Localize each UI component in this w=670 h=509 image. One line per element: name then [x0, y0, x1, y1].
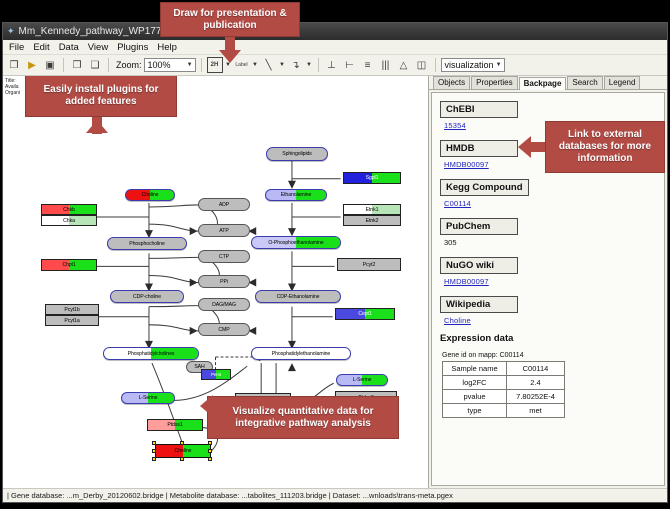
- gene-label: Sgpl1: [366, 175, 379, 181]
- db-heading-kegg-compound: Kegg Compound: [440, 179, 529, 196]
- label-dropdown-icon[interactable]: ▼: [252, 62, 259, 68]
- node-ctp[interactable]: CTP: [198, 250, 250, 263]
- gene-chka[interactable]: Chka: [41, 215, 97, 226]
- gene-sgpl1[interactable]: Sgpl1: [343, 172, 401, 184]
- align-top-icon[interactable]: ⊥: [324, 57, 340, 73]
- zoom-label: Zoom:: [116, 60, 142, 70]
- node-label: ADP: [219, 202, 229, 208]
- cell-value: C00114: [507, 362, 565, 376]
- gene-label: Chpt1: [62, 262, 75, 268]
- node-label: ATP: [219, 228, 228, 234]
- node-label: CDP-choline: [133, 294, 161, 300]
- node-dagmag[interactable]: DAG/MAG: [198, 298, 250, 311]
- callout-links-text: Link to external databases for more info…: [552, 129, 658, 165]
- gene-ptdss1[interactable]: Ptdss1: [147, 419, 203, 431]
- gene-label: Pcyt2: [363, 262, 375, 268]
- menu-help[interactable]: Help: [156, 42, 178, 53]
- node-label: Phosphatidylethanolamine: [272, 351, 330, 357]
- menu-plugins[interactable]: Plugins: [116, 42, 149, 53]
- menu-data[interactable]: Data: [58, 42, 80, 53]
- expression-table: Sample name C00114 log2FC 2.4 pvalue 7.8…: [442, 361, 565, 418]
- gene-pcyt1a[interactable]: Pcyt1a: [45, 315, 99, 326]
- cell-value: 2.4: [507, 376, 565, 390]
- cell-key: pvalue: [443, 390, 507, 404]
- tab-properties[interactable]: Properties: [471, 76, 517, 89]
- menu-edit[interactable]: Edit: [32, 42, 50, 53]
- table-row: type met: [443, 404, 565, 418]
- node-label: Phosphocholine: [129, 241, 165, 247]
- node-label: L-Serine: [139, 395, 158, 401]
- gene-label: Chkb: [63, 207, 75, 213]
- node-label: Choline: [175, 448, 192, 454]
- gene-label: Etnk2: [366, 218, 379, 224]
- db-heading-pubchem: PubChem: [440, 218, 518, 235]
- cell-key: Sample name: [443, 362, 507, 376]
- group-icon[interactable]: △: [396, 57, 412, 73]
- node-label: CTP: [219, 254, 229, 260]
- cell-key: type: [443, 404, 507, 418]
- node-label: CDP-Ethanolamine: [277, 294, 320, 300]
- gene-label: Chka: [63, 218, 75, 224]
- callout-visualize-text: Visualize quantitative data for integrat…: [214, 406, 392, 430]
- gene-label: Cept1: [358, 311, 371, 317]
- node-label: Choline: [142, 192, 159, 198]
- cell-key: log2FC: [443, 376, 507, 390]
- node-label: Phosphatidylcholines: [128, 351, 175, 357]
- db-value-pubchem: 305: [444, 238, 664, 247]
- menu-bar: File Edit Data View Plugins Help: [3, 40, 667, 55]
- db-heading-chebi: ChEBI: [440, 101, 518, 118]
- node-phosphocholine[interactable]: Phosphocholine: [107, 237, 187, 250]
- node-label: Ethanolamine: [281, 192, 312, 198]
- title-bar: ✦ Mm_Kennedy_pathway_WP1771_45176.gpml: [3, 23, 667, 40]
- db-heading-wikipedia: Wikipedia: [440, 296, 518, 313]
- gene-chkb[interactable]: Chkb: [41, 204, 97, 215]
- stack-icon[interactable]: ≡: [360, 57, 376, 73]
- gene-label: Pemt: [211, 372, 221, 377]
- table-row: log2FC 2.4: [443, 376, 565, 390]
- callout-plugins-arrow: [86, 120, 108, 133]
- db-link-kegg-compound[interactable]: C00114: [444, 199, 664, 208]
- gene-etnk2[interactable]: Etnk2: [343, 215, 401, 226]
- node-ppi[interactable]: PPi: [198, 275, 250, 288]
- node-label: DAG/MAG: [212, 302, 236, 308]
- callout-draw-arrow: [219, 50, 241, 63]
- chevron-down-icon: ▼: [187, 62, 193, 68]
- gene-id-on-mapp: Gene id on mapp: C00114: [442, 352, 664, 359]
- pathway-canvas[interactable]: Title: Availa Organi: [3, 76, 429, 488]
- status-bar-text: | Gene database: ...m_Derby_20120602.bri…: [7, 491, 453, 500]
- tab-backpage[interactable]: Backpage: [519, 77, 567, 90]
- distribute-icon[interactable]: |||: [378, 57, 394, 73]
- chevron-down-icon: ▼: [496, 62, 502, 68]
- toolbar-separator-3: [201, 58, 202, 72]
- toolbar-separator-2: [108, 58, 109, 72]
- node-label: O-Phosphoethanolamine: [268, 240, 323, 246]
- toolbar: ❐ ▶ ▣ ❐ ❑ Zoom: 100% ▼ 2H ▼ Label ▼ ╲ ▼ …: [3, 55, 667, 76]
- gene-etnk1[interactable]: Etnk1: [343, 204, 401, 215]
- status-bar: | Gene database: ...m_Derby_20120602.bri…: [3, 488, 667, 502]
- gene-chpt1[interactable]: Chpt1: [41, 259, 97, 271]
- application-window: ✦ Mm_Kennedy_pathway_WP1771_45176.gpml F…: [2, 22, 668, 503]
- tab-search[interactable]: Search: [567, 76, 602, 89]
- node-l-serine-right[interactable]: L-Serine: [336, 374, 388, 386]
- node-cmp[interactable]: CMP: [198, 323, 250, 336]
- toolbar-separator-1: [63, 58, 64, 72]
- gene-label: Ptdss1: [167, 422, 182, 428]
- cell-value: 7.80252E-4: [507, 390, 565, 404]
- cell-value: met: [507, 404, 565, 418]
- screenshot-root: { "window": { "title": "Mm_Kennedy_pathw…: [0, 0, 670, 509]
- visualization-value: visualization: [445, 60, 494, 70]
- node-label: CMP: [218, 327, 229, 333]
- gene-pcyt2[interactable]: Pcyt2: [337, 258, 401, 271]
- callout-plugins: Easily install plugins for added feature…: [25, 76, 177, 117]
- interaction-icon[interactable]: ↴: [288, 57, 304, 73]
- node-phosphatidylcholines[interactable]: Phosphatidylcholines: [103, 347, 199, 360]
- open-folder-icon[interactable]: ▶: [24, 57, 40, 73]
- interaction-dropdown-icon[interactable]: ▼: [306, 62, 313, 68]
- callout-draw-text: Draw for presentation & publication: [167, 8, 293, 32]
- line-dropdown-icon[interactable]: ▼: [279, 62, 286, 68]
- menu-file[interactable]: File: [8, 42, 25, 53]
- db-link-nugo-wiki[interactable]: HMDB00097: [444, 277, 664, 286]
- callout-links: Link to external databases for more info…: [545, 121, 665, 173]
- db-heading-nugo-wiki: NuGO wiki: [440, 257, 518, 274]
- node-atp[interactable]: ATP: [198, 224, 250, 237]
- node-phosphatidylethanolamine[interactable]: Phosphatidylethanolamine: [251, 347, 351, 360]
- node-adp[interactable]: ADP: [198, 198, 250, 211]
- pathvisio-icon: ✦: [7, 23, 15, 40]
- tab-objects[interactable]: Objects: [433, 76, 470, 89]
- visualization-combo[interactable]: visualization ▼: [441, 58, 505, 72]
- expression-data-title: Expression data: [440, 333, 664, 344]
- node-sphingolipids[interactable]: Sphingolipids: [266, 147, 328, 161]
- callout-draw: Draw for presentation & publication: [160, 2, 300, 37]
- node-choline-top[interactable]: Choline: [125, 189, 175, 201]
- callout-visualize-arrow: [200, 395, 213, 417]
- tab-legend[interactable]: Legend: [604, 76, 641, 89]
- db-link-wikipedia[interactable]: Choline: [444, 316, 664, 325]
- zoom-value: 100%: [148, 60, 171, 70]
- menu-view[interactable]: View: [87, 42, 109, 53]
- node-cdp-choline[interactable]: CDP-choline: [110, 290, 184, 303]
- new-file-icon[interactable]: ❐: [6, 57, 22, 73]
- table-row: pvalue 7.80252E-4: [443, 390, 565, 404]
- node-label: PPi: [220, 279, 228, 285]
- node-label: SAH: [194, 364, 204, 370]
- align-left-icon[interactable]: ⊢: [342, 57, 358, 73]
- node-label: L-Serine: [353, 377, 372, 383]
- node-l-serine-left[interactable]: L-Serine: [121, 392, 175, 404]
- side-panel-tabs: Objects Properties Backpage Search Legen…: [429, 76, 667, 90]
- gene-label: Etnk1: [366, 207, 379, 213]
- paste-icon[interactable]: ❑: [87, 57, 103, 73]
- node-cdp-ethanolamine[interactable]: CDP-Ethanolamine: [255, 290, 341, 303]
- db-heading-hmdb: HMDB: [440, 140, 518, 157]
- node-ethanolamine-top[interactable]: Ethanolamine: [265, 189, 327, 201]
- save-icon[interactable]: ▣: [42, 57, 58, 73]
- callout-plugins-text: Easily install plugins for added feature…: [32, 84, 170, 108]
- gene-pemt[interactable]: Pemt: [201, 369, 231, 380]
- callout-links-arrow: [518, 136, 531, 158]
- copy-icon[interactable]: ❐: [69, 57, 85, 73]
- toolbar-separator-4: [318, 58, 319, 72]
- toolbar-separator-5: [435, 58, 436, 72]
- gene-pcyt1b[interactable]: Pcyt1b: [45, 304, 99, 315]
- table-row: Sample name C00114: [443, 362, 565, 376]
- callout-visualize: Visualize quantitative data for integrat…: [207, 396, 399, 439]
- line-icon[interactable]: ╲: [261, 57, 277, 73]
- gene-label: Pcyt1a: [64, 318, 79, 324]
- node-label: Sphingolipids: [282, 151, 312, 157]
- order-icon[interactable]: ◫: [414, 57, 430, 73]
- node-o-phosphoethanolamine[interactable]: O-Phosphoethanolamine: [251, 236, 341, 249]
- node-choline-selected[interactable]: Choline: [155, 444, 211, 458]
- gene-cept1[interactable]: Cept1: [335, 308, 395, 320]
- zoom-combo[interactable]: 100% ▼: [144, 58, 196, 72]
- gene-label: Pcyt1b: [64, 307, 79, 313]
